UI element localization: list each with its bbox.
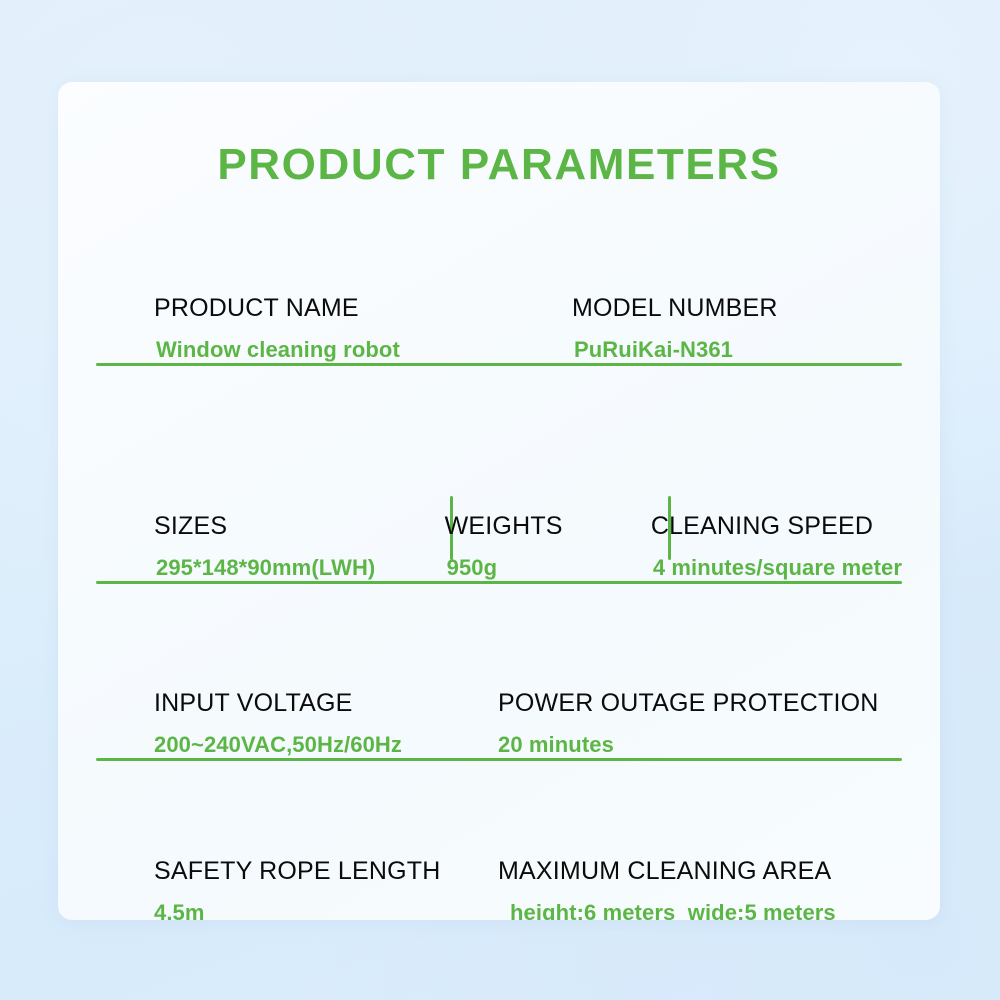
spec-label: INPUT VOLTAGE (154, 689, 492, 718)
spec-value: 295*148*90mm(LWH) (156, 555, 417, 581)
spec-label: MAXIMUM CLEANING AREA (498, 857, 836, 886)
spec-value: 4 minutes/square meter (653, 555, 902, 581)
spec-cell-input-voltage: INPUT VOLTAGE 200~240VAC,50Hz/60Hz (96, 689, 492, 758)
row-separator (96, 363, 902, 366)
spec-cell-maximum-cleaning-area: MAXIMUM CLEANING AREA height:6 meters wi… (492, 857, 836, 920)
spec-rows: PRODUCT NAME Window cleaning robot MODEL… (96, 272, 902, 920)
row-separator (96, 758, 902, 761)
spec-cell-product-name: PRODUCT NAME Window cleaning robot (96, 294, 558, 363)
spec-cell-power-outage-protection: POWER OUTAGE PROTECTION 20 minutes (492, 689, 879, 758)
spec-cell-safety-rope-length: SAFETY ROPE LENGTH 4.5m (96, 857, 492, 920)
spec-row-product-identity: PRODUCT NAME Window cleaning robot MODEL… (96, 272, 902, 490)
spec-label: PRODUCT NAME (154, 294, 558, 323)
spec-cell-weights: WEIGHTS 950g (417, 512, 623, 581)
product-parameters-card: PRODUCT PARAMETERS PRODUCT NAME Window c… (58, 82, 940, 920)
spec-row-power: INPUT VOLTAGE 200~240VAC,50Hz/60Hz POWER… (96, 667, 902, 835)
spec-value: 4.5m (154, 900, 492, 920)
spec-label: SAFETY ROPE LENGTH (154, 857, 492, 886)
spec-value: 20 minutes (498, 732, 879, 758)
spec-cell-sizes: SIZES 295*148*90mm(LWH) (96, 512, 417, 581)
spec-value: 950g (447, 555, 623, 581)
spec-row-coverage: SAFETY ROPE LENGTH 4.5m MAXIMUM CLEANING… (96, 835, 902, 920)
row-separator (96, 581, 902, 584)
spec-row-physical: SIZES 295*148*90mm(LWH) WEIGHTS 950g CLE… (96, 490, 902, 667)
spec-label: CLEANING SPEED (651, 512, 902, 541)
spec-label: WEIGHTS (445, 512, 623, 541)
spec-label: SIZES (154, 512, 417, 541)
spec-cell-model-number: MODEL NUMBER PuRuiKai-N361 (558, 294, 778, 363)
spec-value: PuRuiKai-N361 (574, 337, 778, 363)
spec-label: MODEL NUMBER (572, 294, 778, 323)
spec-value: 200~240VAC,50Hz/60Hz (154, 732, 492, 758)
spec-value: Window cleaning robot (156, 337, 558, 363)
page-title: PRODUCT PARAMETERS (58, 140, 940, 190)
spec-value: height:6 meters wide:5 meters (510, 900, 836, 920)
spec-label: POWER OUTAGE PROTECTION (498, 689, 879, 718)
page-background: PRODUCT PARAMETERS PRODUCT NAME Window c… (0, 0, 1000, 1000)
spec-cell-cleaning-speed: CLEANING SPEED 4 minutes/square meter (623, 512, 902, 581)
